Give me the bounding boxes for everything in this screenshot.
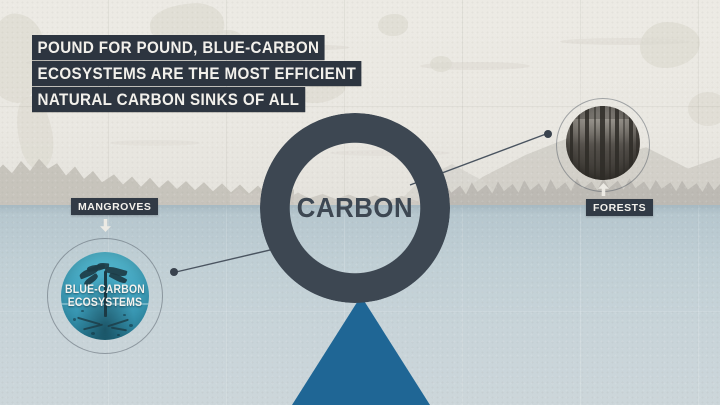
- node-mangroves[interactable]: BLUE-CARBON ECOSYSTEMS: [47, 238, 163, 354]
- connector-node-mangroves: [170, 268, 178, 276]
- carbon-label: CARBON: [268, 113, 443, 303]
- forest-photo: [566, 106, 640, 180]
- mangrove-root: [111, 327, 127, 331]
- water-speck: [123, 314, 126, 316]
- tree-trunk: [578, 106, 580, 180]
- mangrove-root: [77, 317, 101, 325]
- tree-trunk: [623, 106, 625, 180]
- headline-line-1: POUND FOR POUND, BLUE-CARBON: [32, 35, 325, 60]
- label-mangroves[interactable]: MANGROVES: [71, 198, 158, 215]
- infographic-stage: CARBON BLUE-CARBON ECOSYSTEMS: [0, 0, 720, 405]
- label-forests[interactable]: FORESTS: [586, 199, 653, 216]
- water-speck: [73, 318, 76, 321]
- headline-line-2: ECOSYSTEMS ARE THE MOST EFFICIENT: [32, 61, 362, 86]
- tree-trunk: [594, 106, 596, 180]
- tree-trunk: [600, 106, 605, 180]
- caption-line-1: BLUE-CARBON: [53, 284, 157, 297]
- headline: POUND FOR POUND, BLUE-CARBON ECOSYSTEMS …: [32, 35, 390, 113]
- headline-line-3: NATURAL CARBON SINKS OF ALL: [32, 87, 305, 112]
- node-caption-mangroves: BLUE-CARBON ECOSYSTEMS: [53, 284, 157, 309]
- caption-line-2: ECOSYSTEMS: [53, 297, 157, 310]
- tree-trunk: [585, 106, 589, 180]
- mangrove-root: [107, 319, 128, 327]
- mangrove-root: [83, 324, 103, 330]
- carbon-ring: CARBON: [260, 113, 450, 303]
- water-speck: [91, 332, 95, 335]
- node-forests[interactable]: [556, 98, 650, 192]
- tree-trunk: [609, 106, 611, 180]
- tree-trunk: [570, 106, 573, 180]
- tree-trunk: [615, 106, 619, 180]
- tree-trunk: [636, 106, 639, 180]
- mangrove-leaf: [97, 263, 109, 270]
- water-speck: [129, 324, 133, 327]
- water-speck: [81, 310, 84, 312]
- connector-node-forests: [544, 130, 552, 138]
- tree-trunk: [629, 106, 633, 180]
- water-speck: [117, 334, 120, 336]
